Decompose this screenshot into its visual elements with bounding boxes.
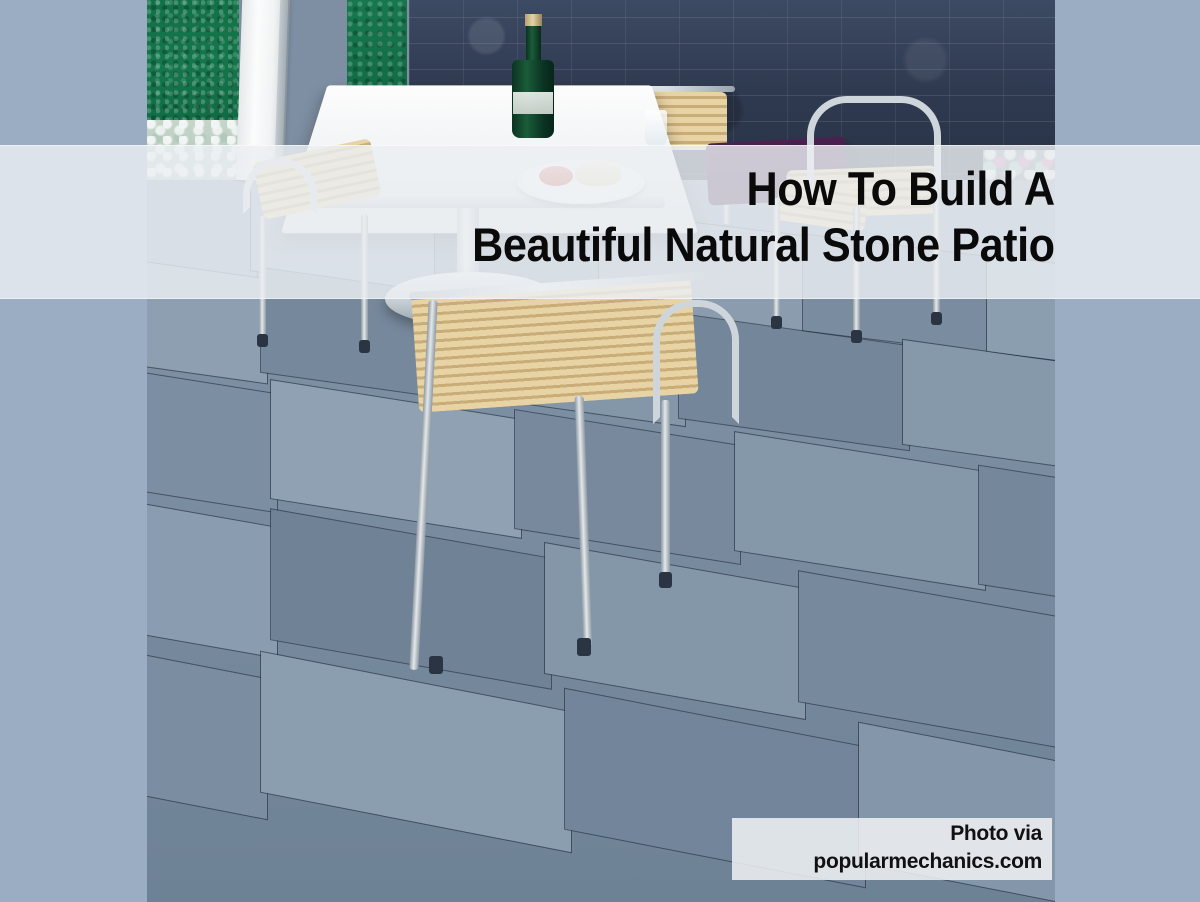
wine-bottle-label: [513, 92, 553, 114]
attribution-line-2: popularmechanics.com: [732, 848, 1042, 876]
patio-photograph: [147, 0, 1055, 902]
paver-stone: [979, 466, 1055, 613]
chair-foot: [257, 334, 268, 347]
wine-bottle-cap: [525, 14, 542, 26]
chair-leg: [661, 400, 670, 580]
chair-foot: [429, 656, 443, 674]
chair-foot: [851, 330, 862, 343]
chair-foot: [931, 312, 942, 325]
title-line-1: How To Build A: [96, 161, 1055, 217]
paver-stone: [515, 410, 740, 564]
chair-foot: [577, 638, 591, 656]
photo-attribution: Photo via popularmechanics.com: [732, 818, 1052, 880]
chair-foot: [359, 340, 370, 353]
drinking-glass: [645, 110, 667, 148]
title-line-2: Beautiful Natural Stone Patio: [96, 217, 1055, 273]
paver-stone: [735, 432, 985, 590]
paver-stone: [903, 340, 1055, 472]
attribution-line-1: Photo via: [732, 820, 1042, 848]
page-title: How To Build A Beautiful Natural Stone P…: [96, 145, 1200, 297]
chair-foot: [771, 316, 782, 329]
paver-stone: [799, 571, 1055, 750]
image-canvas: How To Build A Beautiful Natural Stone P…: [0, 0, 1200, 902]
chair-foot: [659, 572, 672, 588]
